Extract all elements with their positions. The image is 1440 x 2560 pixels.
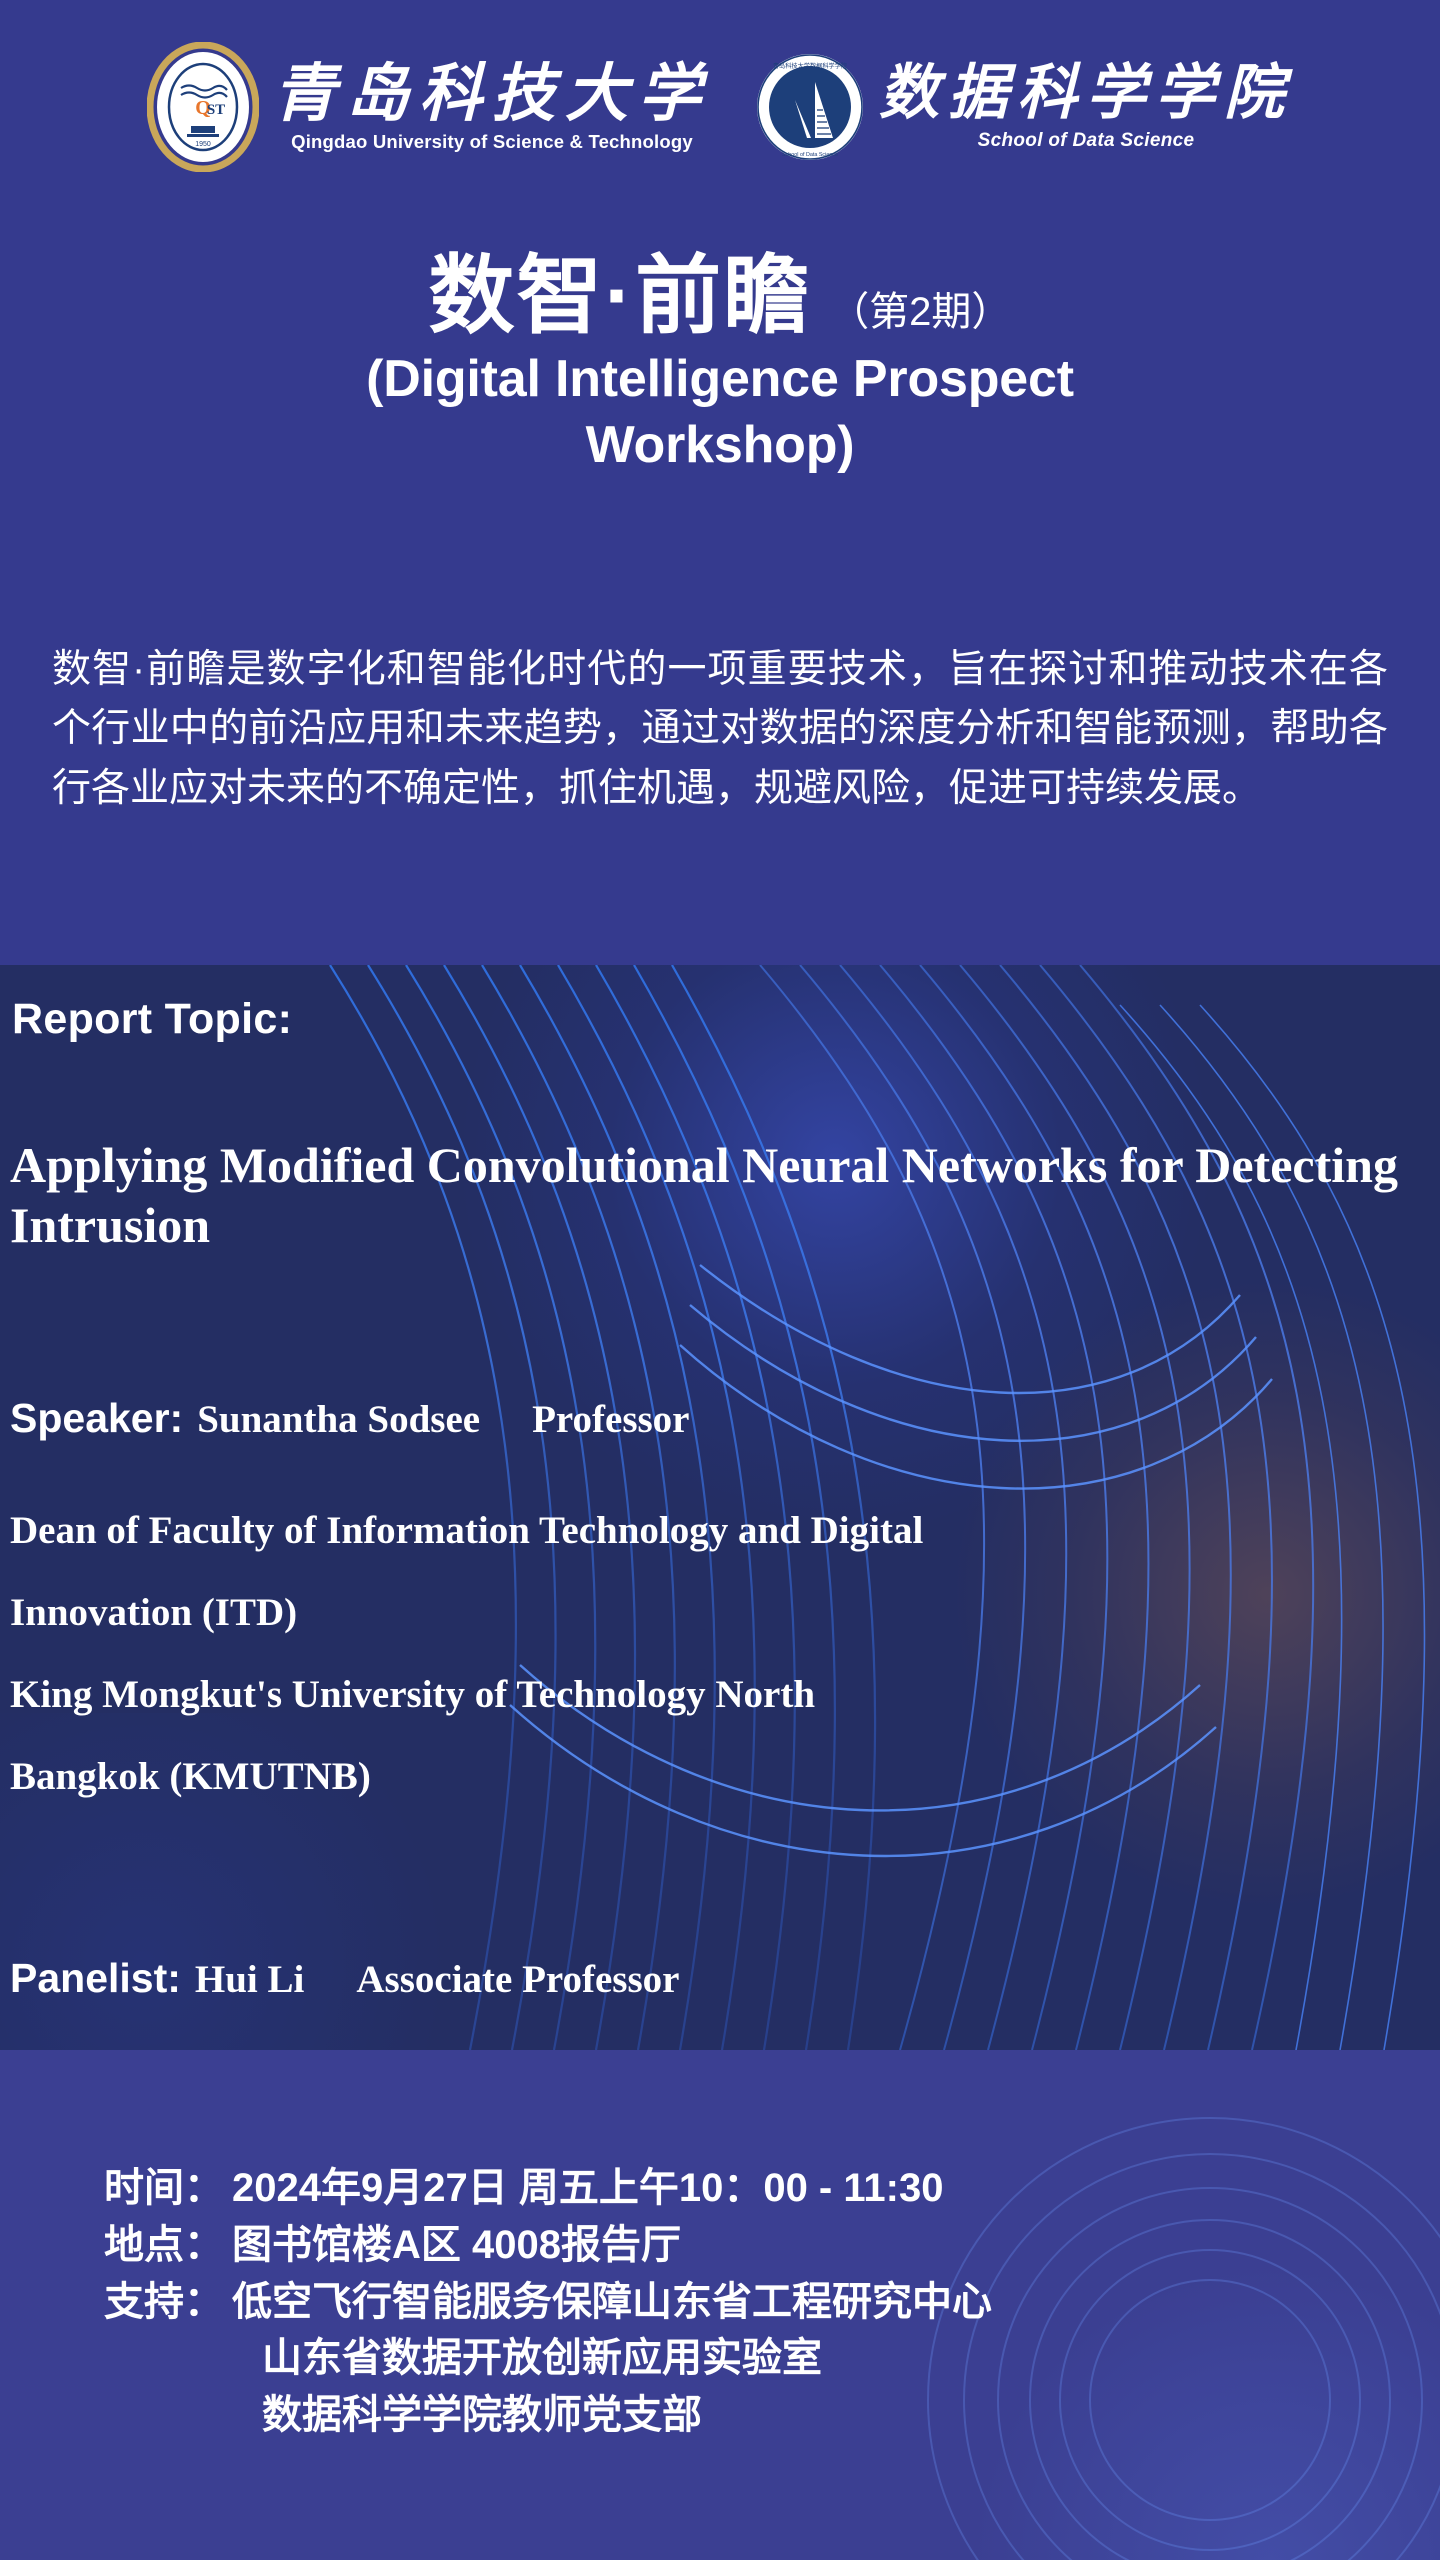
qust-seal-icon: Q ST 1950 — [147, 42, 259, 172]
speaker-affiliation: Dean of Faculty of Information Technolog… — [10, 1490, 1435, 1818]
event-time-label: 时间： — [104, 2160, 224, 2217]
svg-text:1950: 1950 — [195, 141, 211, 148]
speaker-rank: Professor — [532, 1397, 689, 1442]
report-topic-label: Report Topic: — [12, 995, 292, 1044]
university-name-cn: 青岛科技大学 — [273, 61, 711, 127]
header-logo-row: Q ST 1950 青岛科技大学 Qingdao University of S… — [0, 42, 1440, 172]
panelist-label: Panelist: — [10, 1955, 181, 2002]
speaker-label: Speaker: — [10, 1395, 183, 1442]
panelist-name: Hui Li — [195, 1957, 304, 2002]
event-time-value: 2024年9月27日 周五上午10：00 - 11:30 — [232, 2160, 1404, 2217]
school-logo-group: 青岛科技大学数据科学学院 School of Data Science 数据科学… — [755, 52, 1293, 162]
event-place-line: 地点： 图书馆楼A区 4008报告厅 — [104, 2217, 1404, 2274]
title-block: 数智·前瞻 （第2期） (Digital Intelligence Prospe… — [0, 248, 1440, 475]
report-topic-title: Applying Modified Convolutional Neural N… — [10, 1135, 1430, 1255]
school-name-cn: 数据科学学院 — [879, 62, 1293, 125]
event-support-value-3: 数据科学学院教师党支部 — [262, 2387, 1404, 2444]
svg-text:ST: ST — [207, 102, 225, 118]
event-place-label: 地点： — [104, 2217, 224, 2274]
speaker-affiliation-line4: Bangkok (KMUTNB) — [10, 1736, 1435, 1818]
title-en-line1: (Digital Intelligence Prospect — [0, 350, 1440, 409]
event-support-value-1: 低空飞行智能服务保障山东省工程研究中心 — [232, 2274, 1404, 2331]
panelist-rank: Associate Professor — [356, 1957, 679, 2002]
speaker-name: Sunantha Sodsee — [197, 1397, 480, 1442]
event-support-line: 支持： 低空飞行智能服务保障山东省工程研究中心 — [104, 2274, 1404, 2331]
university-logo-group: Q ST 1950 青岛科技大学 Qingdao University of S… — [147, 42, 711, 172]
speaker-affiliation-line2: Innovation (ITD) — [10, 1572, 1435, 1654]
title-issue-number: （第2期） — [829, 279, 1011, 337]
event-support-value-2: 山东省数据开放创新应用实验室 — [262, 2330, 1404, 2387]
poster-root: Q ST 1950 青岛科技大学 Qingdao University of S… — [0, 0, 1440, 2560]
event-support-label: 支持： — [104, 2274, 224, 2331]
event-place-value: 图书馆楼A区 4008报告厅 — [232, 2217, 1404, 2274]
speaker-row: Speaker: Sunantha Sodsee Professor — [10, 1395, 1430, 1442]
university-name-en: Qingdao University of Science & Technolo… — [291, 131, 693, 153]
intro-paragraph: 数智·前瞻是数字化和智能化时代的一项重要技术，旨在探讨和推动技术在各个行业中的前… — [52, 640, 1388, 818]
event-time-line: 时间： 2024年9月27日 周五上午10：00 - 11:30 — [104, 2160, 1404, 2217]
school-of-data-science-seal-icon: 青岛科技大学数据科学学院 School of Data Science — [755, 52, 865, 162]
svg-text:青岛科技大学数据科学学院: 青岛科技大学数据科学学院 — [773, 62, 847, 70]
title-cn: 数智·前瞻 — [429, 248, 812, 344]
speaker-affiliation-line1: Dean of Faculty of Information Technolog… — [10, 1490, 1435, 1572]
svg-text:School of Data Science: School of Data Science — [782, 152, 838, 158]
school-name-en: School of Data Science — [978, 130, 1195, 152]
speaker-affiliation-line3: King Mongkut's University of Technology … — [10, 1654, 1435, 1736]
event-info-block: 时间： 2024年9月27日 周五上午10：00 - 11:30 地点： 图书馆… — [104, 2160, 1404, 2444]
panelist-row: Panelist: Hui Li Associate Professor — [10, 1955, 1430, 2002]
title-en-line2: Workshop) — [0, 416, 1440, 475]
